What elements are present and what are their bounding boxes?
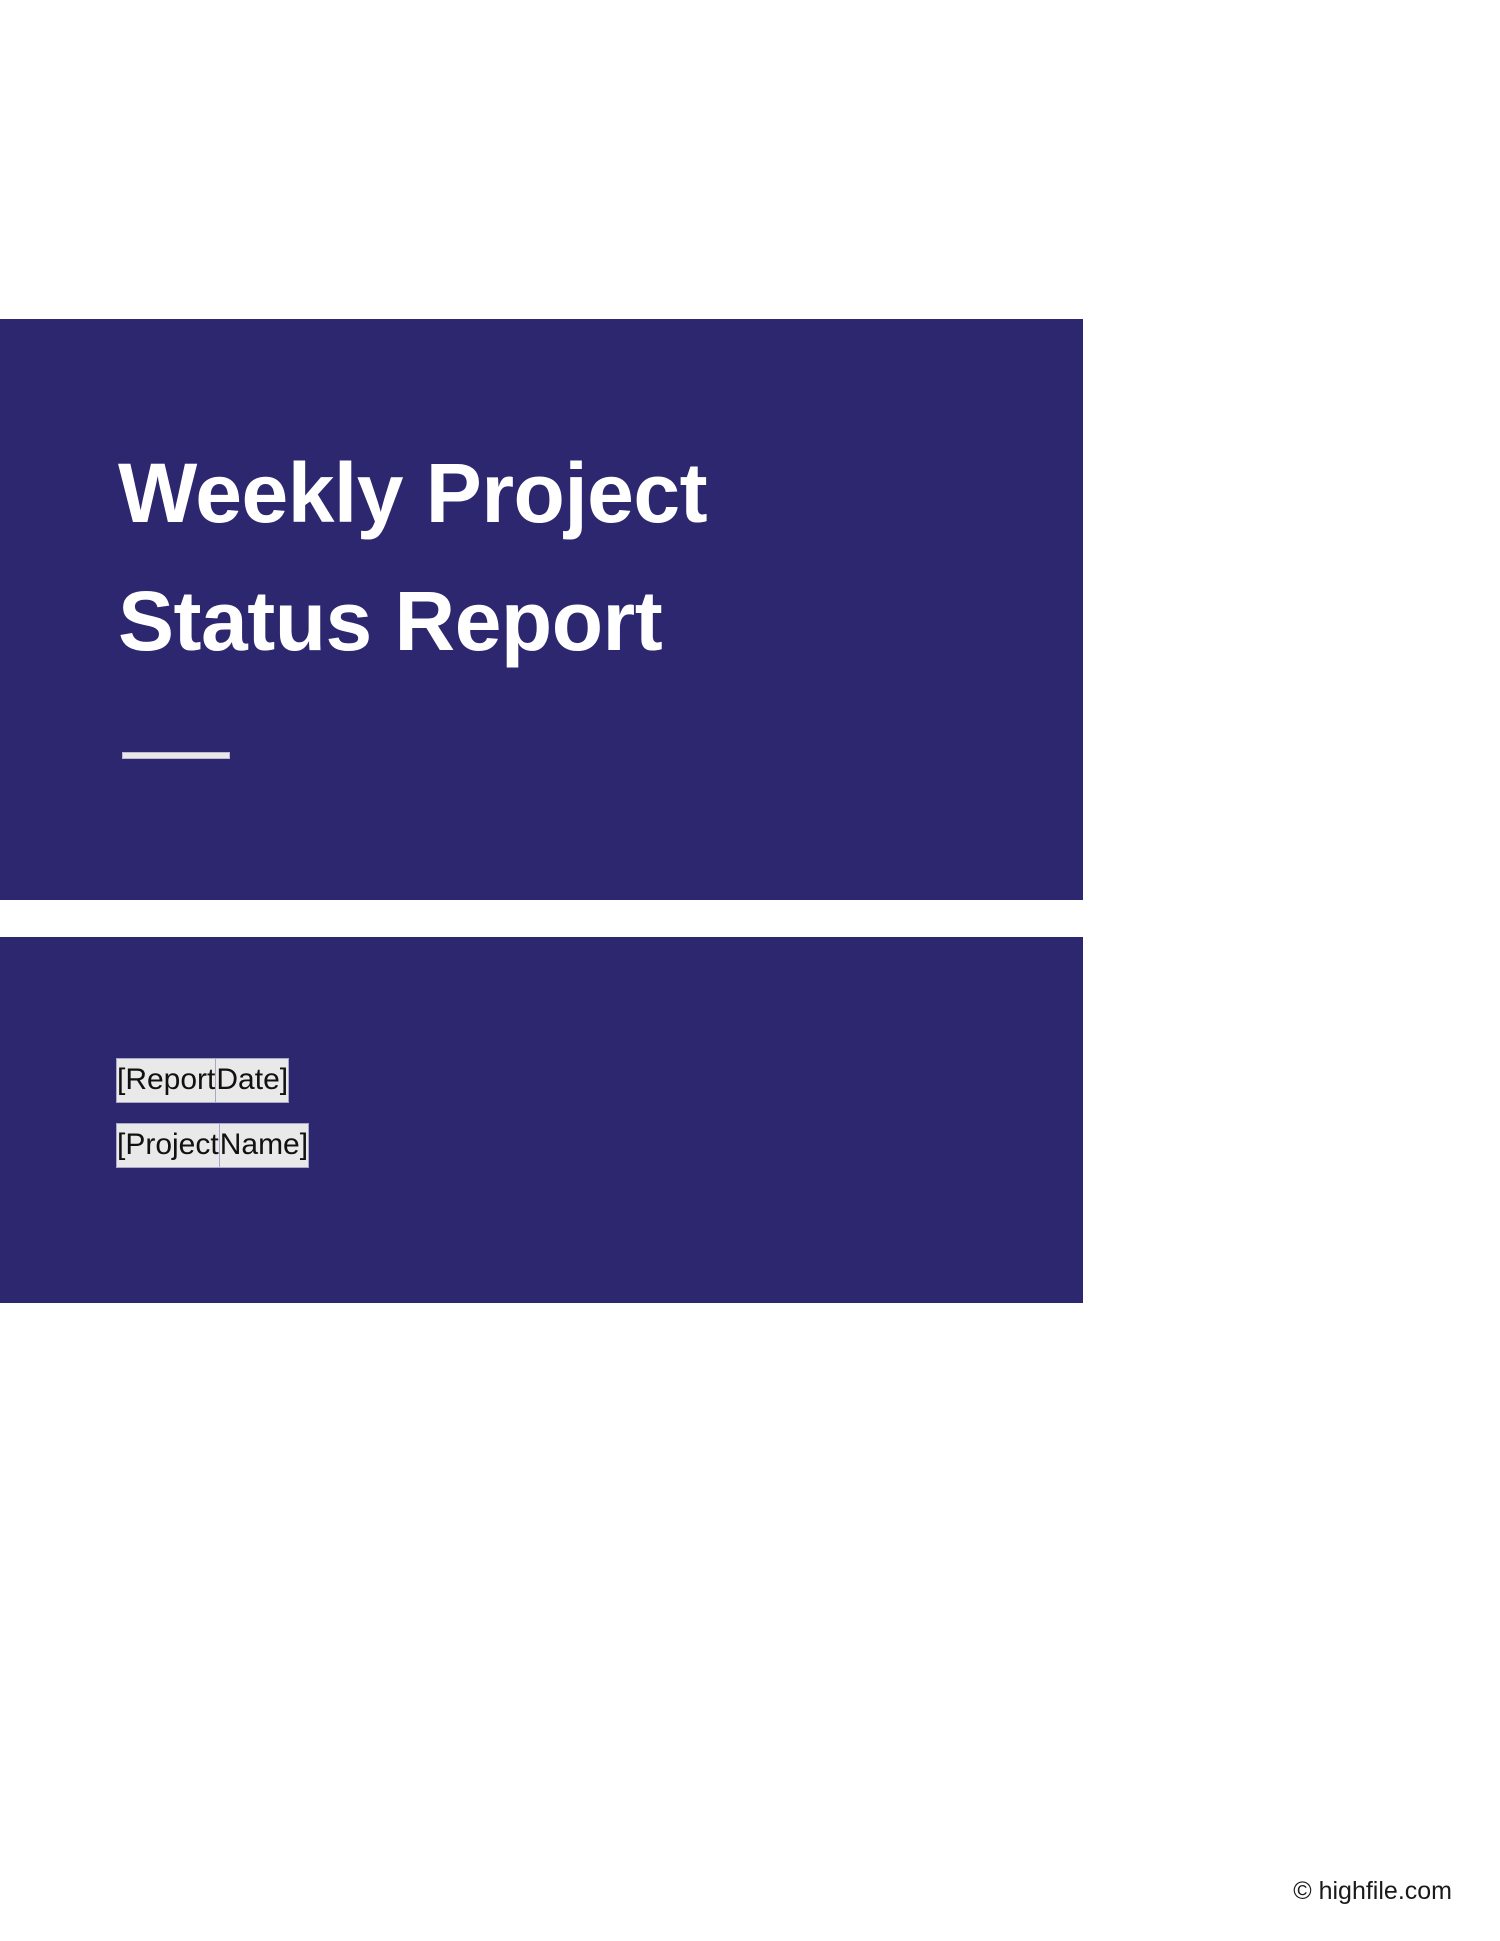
document-page: Weekly Project Status Report [Report Dat… (0, 0, 1500, 1941)
footer-credit: © highfile.com (1293, 1876, 1452, 1906)
title-underline-rule (122, 752, 230, 759)
project-name-segment-1[interactable]: [Project (116, 1123, 220, 1168)
project-name-field[interactable]: [Project Name] (116, 1123, 309, 1168)
project-name-segment-2[interactable]: Name] (219, 1123, 309, 1168)
meta-fields: [Report Date] [Project Name] (116, 1058, 309, 1168)
page-title: Weekly Project Status Report (118, 430, 1018, 685)
report-date-segment-2[interactable]: Date] (215, 1058, 289, 1103)
report-date-segment-1[interactable]: [Report (116, 1058, 216, 1103)
report-date-field[interactable]: [Report Date] (116, 1058, 309, 1103)
